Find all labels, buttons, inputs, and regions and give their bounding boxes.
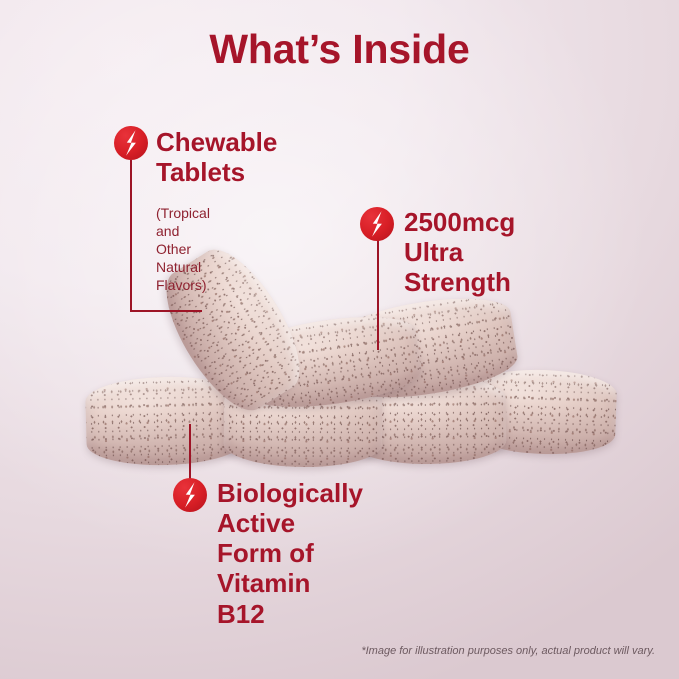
tablet [85, 375, 245, 467]
callout-title: Biologically Active Form of Vitamin B12 [217, 478, 363, 629]
leader-line-vertical [189, 424, 191, 486]
leader-line-vertical [377, 240, 379, 350]
tablet [331, 289, 521, 408]
tablet [469, 367, 618, 456]
lightning-bolt-icon [114, 126, 148, 160]
callout-subtitle: (Tropical and Other Natural Flavors) [156, 205, 210, 295]
tablet [238, 308, 424, 416]
callout-title: 2500mcg Ultra Strength [404, 207, 515, 297]
page-title: What’s Inside [0, 26, 679, 73]
lightning-bolt-icon [360, 207, 394, 241]
disclaimer-text: *Image for illustration purposes only, a… [361, 645, 655, 657]
tablet [350, 375, 507, 464]
tablet [224, 378, 383, 467]
callout-title: Chewable Tablets [156, 127, 277, 187]
pile-shadow [88, 436, 578, 462]
product-infographic: What’s Inside Chewable Tablets (Tropical… [0, 0, 679, 679]
lightning-bolt-icon [173, 478, 207, 512]
leader-line-vertical [130, 160, 132, 312]
leader-line-horizontal [130, 310, 202, 312]
